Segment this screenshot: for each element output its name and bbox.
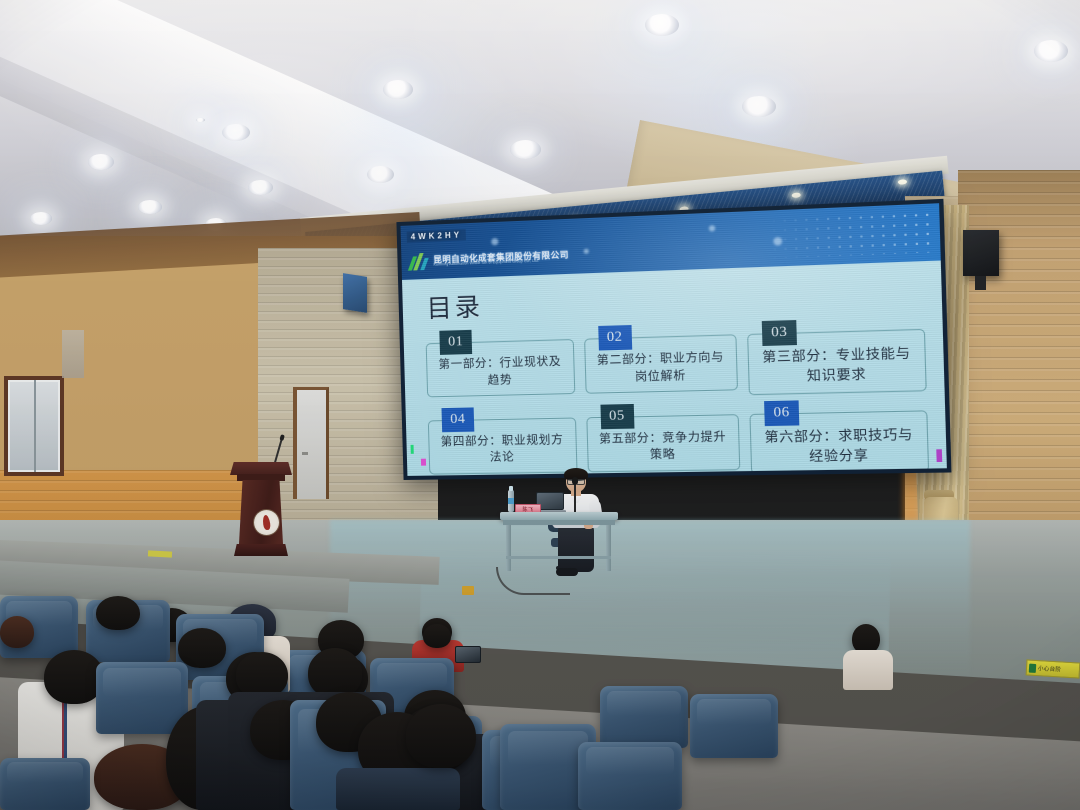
audience-torso: [843, 650, 893, 690]
spotlight: [792, 192, 801, 198]
caution-sign-text: 小心台阶: [1038, 664, 1062, 673]
toc-item-04[interactable]: 04 第四部分：职业规划方法论: [427, 405, 577, 476]
toc-number: 06: [764, 400, 799, 426]
header-sparkle: [709, 225, 716, 231]
toc-item-03[interactable]: 03 第三部分：专业技能与知识要求: [747, 316, 927, 395]
table-of-contents: 01 第一部分：行业现状及趋势 02 第二部分：职业方向与岗位解析 03: [425, 316, 929, 476]
toc-item-06[interactable]: 06 第六部分：求职技巧与经验分享: [749, 397, 929, 474]
slide-surface: 昆明自动化成套集团股份有限公司 Kunming Automation Whole…: [401, 203, 947, 476]
ceiling-downlight: [367, 166, 394, 183]
ceiling-downlight: [196, 118, 205, 122]
door-handle[interactable]: [302, 452, 308, 455]
lectern-neck: [237, 474, 285, 481]
caution-pictogram-icon: [1029, 663, 1037, 672]
desk-leg-left: [506, 525, 511, 571]
desk-leg-right: [606, 525, 611, 571]
slide-body: 目录 01 第一部分：行业现状及趋势 02 第二部分：职业方向与岗位解析: [402, 260, 947, 475]
toc-label: 第五部分：竞争力提升策略: [593, 428, 732, 465]
toc-label: 第一部分：行业现状及趋势: [433, 353, 567, 390]
auditorium-seat[interactable]: [0, 758, 90, 810]
ceiling-downlight: [510, 140, 541, 159]
toc-number: 01: [439, 330, 472, 355]
toc-number: 04: [441, 407, 474, 432]
presenter-desk: 陈飞: [500, 512, 618, 574]
header-sparkle: [491, 238, 498, 245]
auditorium-photo: 昆明自动化成套集团股份有限公司 Kunming Automation Whole…: [0, 0, 1080, 810]
audience-head: [406, 704, 476, 768]
toc-number: 03: [762, 320, 797, 346]
bottle-label: [508, 498, 514, 504]
floor-power-box: [462, 586, 474, 595]
audience-torso: [336, 768, 460, 810]
audience-head: [44, 650, 104, 704]
side-door[interactable]: [293, 387, 329, 499]
spotlight: [898, 179, 907, 185]
wooden-lectern: [233, 462, 289, 558]
ceiling-downlight: [248, 180, 273, 195]
screen-dead-pixel-green: [411, 445, 414, 454]
yellow-floor-marker: [148, 550, 172, 557]
toc-label: 第三部分：专业技能与知识要求: [755, 344, 919, 388]
screen-dead-pixel-magenta-right: [936, 449, 942, 462]
screen-dead-pixel-magenta: [421, 459, 426, 466]
audience-head: [96, 596, 140, 630]
toc-number: 05: [600, 404, 634, 429]
auditorium-seat[interactable]: [578, 742, 682, 810]
ceiling-downlight: [138, 200, 162, 214]
desk-top: [500, 512, 618, 520]
desk-apron: [503, 520, 615, 525]
audience-laptop[interactable]: [455, 646, 481, 663]
audience-head: [0, 616, 34, 648]
audience-head: [423, 624, 451, 648]
led-wall-screen: 昆明自动化成套集团股份有限公司 Kunming Automation Whole…: [396, 199, 951, 480]
auditorium-seat[interactable]: [96, 662, 188, 734]
lectern-emblem-icon: [254, 510, 279, 535]
slide-title: 目录: [426, 272, 924, 325]
company-logo: 昆明自动化成套集团股份有限公司 Kunming Automation Whole…: [409, 247, 569, 271]
auditorium-seat[interactable]: [690, 694, 778, 758]
ceiling-downlight: [645, 14, 679, 36]
wall-placard: [62, 330, 84, 378]
toc-item-05[interactable]: 05 第五部分：竞争力提升策略: [585, 401, 740, 476]
ceiling-downlight: [383, 80, 413, 99]
lectern-base: [234, 544, 288, 556]
header-dot-pattern: [768, 210, 933, 258]
auditorium-seat[interactable]: [600, 686, 688, 748]
toc-label: 第六部分：求职技巧与经验分享: [757, 425, 921, 467]
toc-item-02[interactable]: 02 第二部分：职业方向与岗位解析: [583, 322, 738, 399]
black-wall-speaker: [963, 230, 999, 276]
desk-rail: [506, 556, 611, 559]
caution-step-sign: 小心台阶: [1026, 659, 1080, 678]
ceiling-downlight: [1034, 40, 1068, 62]
ceiling-downlight: [222, 124, 250, 141]
toc-label: 第四部分：职业规划方法论: [435, 432, 569, 468]
toc-item-01[interactable]: 01 第一部分：行业现状及趋势: [425, 327, 575, 402]
water-bottle: [508, 490, 514, 512]
wall-window: [4, 376, 64, 476]
toc-label: 第二部分：职业方向与岗位解析: [591, 349, 730, 387]
ceiling-downlight: [88, 154, 114, 170]
ceiling-downlight: [742, 96, 776, 117]
blue-wall-speaker: [343, 273, 367, 313]
desk-microphone: [574, 482, 576, 514]
header-sparkle: [584, 249, 589, 254]
ceiling-downlight: [30, 212, 52, 225]
audience-head: [308, 648, 362, 698]
audience-head: [178, 628, 226, 668]
lectern-body: [239, 480, 283, 544]
toc-number: 02: [598, 325, 632, 351]
company-logo-icon: [409, 253, 429, 272]
